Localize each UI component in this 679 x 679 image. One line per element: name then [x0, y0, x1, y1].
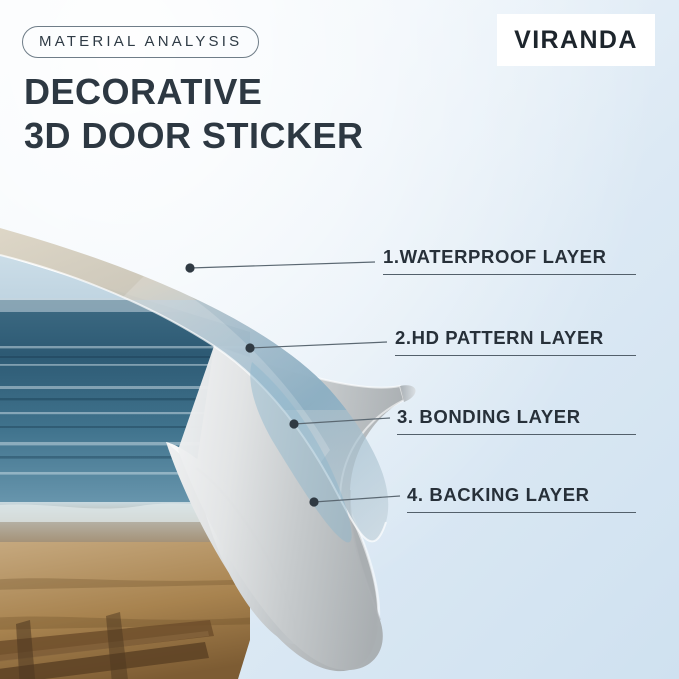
- eyebrow-badge: MATERIAL ANALYSIS: [22, 26, 259, 58]
- callout-4-label: 4. BACKING LAYER: [407, 484, 590, 505]
- leader-dot-4: [309, 497, 318, 506]
- title-line-1: DECORATIVE: [24, 71, 262, 112]
- brand-logo: VIRANDA: [497, 14, 655, 66]
- callout-4-rule: [407, 512, 636, 514]
- callout-hd-pattern-layer: 2.HD PATTERN LAYER: [395, 327, 604, 349]
- callout-bonding-layer: 3. BONDING LAYER: [397, 406, 581, 428]
- callout-2-label: 2.HD PATTERN LAYER: [395, 327, 604, 348]
- leader-dot-3: [289, 419, 298, 428]
- callout-2-rule: [395, 355, 636, 357]
- brand-name: VIRANDA: [514, 26, 638, 55]
- callout-backing-layer: 4. BACKING LAYER: [407, 484, 590, 506]
- page-title: DECORATIVE 3D DOOR STICKER: [24, 70, 364, 158]
- callout-1-label: 1.WATERPROOF LAYER: [383, 246, 607, 267]
- leader-dot-1: [185, 263, 194, 272]
- callout-3-label: 3. BONDING LAYER: [397, 406, 581, 427]
- leader-dot-2: [245, 343, 254, 352]
- callout-waterproof-layer: 1.WATERPROOF LAYER: [383, 246, 607, 268]
- callout-1-rule: [383, 274, 636, 276]
- callout-3-rule: [397, 434, 636, 436]
- poster-canvas: MATERIAL ANALYSIS DECORATIVE 3D DOOR STI…: [0, 0, 679, 679]
